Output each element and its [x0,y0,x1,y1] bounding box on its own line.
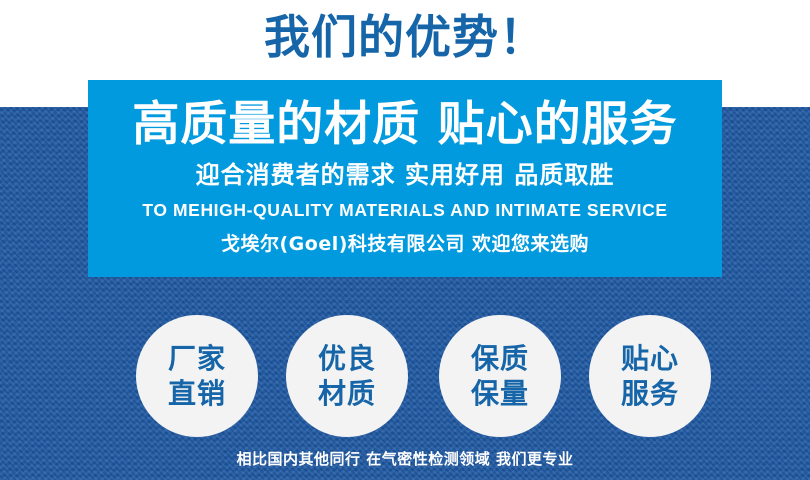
page-title: 我们的优势！ [0,8,810,66]
feature-circle-label-line1: 保质 [471,341,529,376]
highlight-english-line: TO MEHIGH-QUALITY MATERIALS AND INTIMATE… [88,194,722,226]
feature-circle-guaranteed-quality: 保质 保量 [439,315,561,437]
feature-circle-label-line1: 贴心 [621,341,679,376]
feature-circle-row: 厂家 直销 优良 材质 保质 保量 贴心 服务 [0,315,810,441]
feature-circle-label-line1: 厂家 [168,341,226,376]
highlight-heading: 高质量的材质 贴心的服务 [88,94,722,156]
feature-circle-label-line1: 优良 [318,341,376,376]
feature-circle-label-line2: 保量 [471,376,529,411]
feature-circle-caring-service: 贴心 服务 [589,315,711,437]
feature-circle-quality-material: 优良 材质 [286,315,408,437]
feature-circle-label-line2: 材质 [318,376,376,411]
footer-tagline: 相比国内其他同行 在气密性检测领域 我们更专业 [0,448,810,470]
highlight-subheading: 迎合消费者的需求 实用好用 品质取胜 [88,156,722,194]
feature-circle-label-line2: 服务 [621,376,679,411]
promo-banner-root: 我们的优势！ 高质量的材质 贴心的服务 迎合消费者的需求 实用好用 品质取胜 T… [0,0,810,480]
feature-circle-label-line2: 直销 [168,376,226,411]
feature-circle-factory-direct: 厂家 直销 [136,315,258,437]
highlight-company-line: 戈埃尔(Goel)科技有限公司 欢迎您来选购 [88,226,722,262]
highlight-card: 高质量的材质 贴心的服务 迎合消费者的需求 实用好用 品质取胜 TO MEHIG… [88,80,722,277]
